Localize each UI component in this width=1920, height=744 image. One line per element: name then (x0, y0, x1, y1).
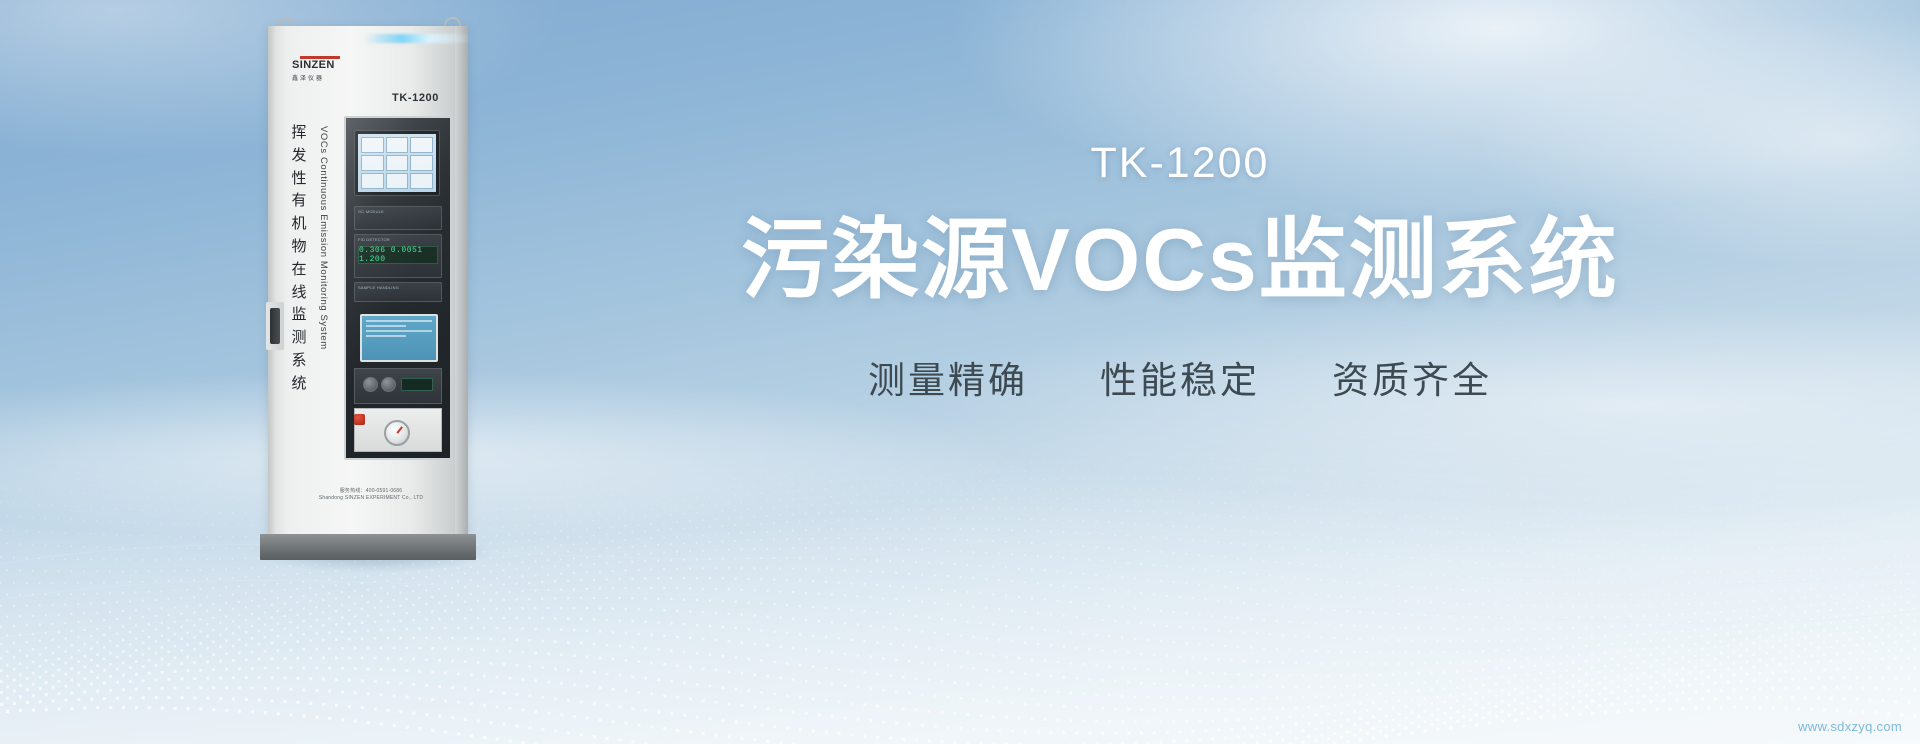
product-cabinet: SINZEN 鑫泽仪器 TK-1200 挥发性有机物在线监测系统 VOCs Co… (268, 26, 478, 558)
model-number: TK-1200 (690, 140, 1670, 187)
cabinet-footer-line-2: Shandong SINZEN EXPERIMENT Co., LTD (296, 495, 446, 502)
cabinet-base (260, 534, 476, 560)
status-light-strip (364, 34, 472, 43)
cabinet-footer-line-1: 服务热线：400-0591-0686 (296, 488, 446, 495)
brand-name-cn: 鑫泽仪器 (292, 73, 354, 82)
cabinet-left-edge (268, 26, 277, 534)
cabinet-vertical-text-en: VOCs Continuous Emission Monitoring Syst… (318, 126, 329, 376)
feature-list: 测量精确 性能稳定 资质齐全 (690, 350, 1670, 404)
feature-item-3: 资质齐全 (1332, 350, 1492, 404)
brand-logo: SINZEN 鑫泽仪器 (292, 56, 354, 82)
cabinet-right-edge (455, 26, 468, 534)
cabinet-model-label: TK-1200 (392, 92, 439, 104)
instrument-window: GC MODULE FID DETECTOR 0.306 0.0051 1.20… (344, 116, 452, 460)
cabinet-body: SINZEN 鑫泽仪器 TK-1200 挥发性有机物在线监测系统 VOCs Co… (268, 26, 468, 534)
brand-name: SINZEN (292, 60, 354, 71)
promo-banner: SINZEN 鑫泽仪器 TK-1200 挥发性有机物在线监测系统 VOCs Co… (0, 0, 1920, 744)
feature-item-1: 测量精确 (868, 350, 1028, 404)
marketing-copy: TK-1200 污染源VOCs监测系统 测量精确 性能稳定 资质齐全 (690, 140, 1670, 404)
window-glass-reflection (346, 118, 450, 458)
page-title: 污染源VOCs监测系统 (690, 211, 1670, 310)
site-watermark: www.sdxzyq.com (1798, 719, 1902, 734)
cabinet-footer-text: 服务热线：400-0591-0686 Shandong SINZEN EXPER… (296, 488, 446, 503)
cabinet-vertical-text-cn: 挥发性有机物在线监测系统 (288, 122, 310, 396)
door-handle (270, 308, 280, 344)
feature-item-2: 性能稳定 (1100, 350, 1260, 404)
